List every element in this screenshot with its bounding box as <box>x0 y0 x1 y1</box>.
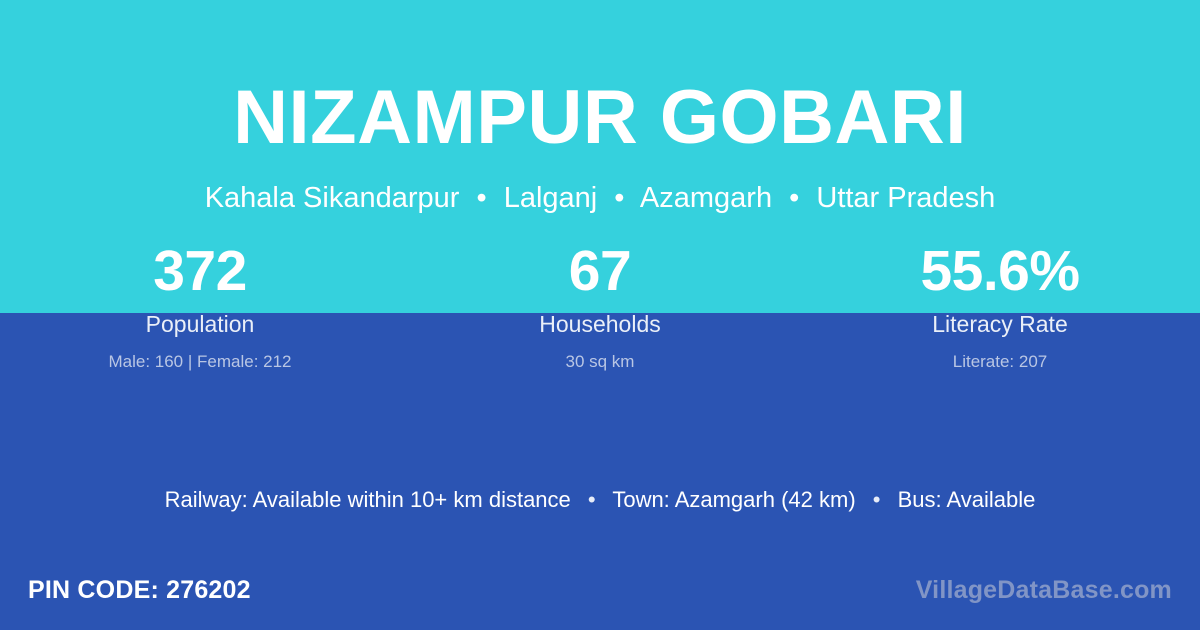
stat-population: 372 Population Male: 160 | Female: 212 <box>0 243 400 370</box>
page-title: NIZAMPUR GOBARI <box>0 80 1200 156</box>
amenity-bus: Bus: Available <box>898 487 1036 512</box>
stat-value: 67 <box>400 243 800 313</box>
stat-value: 372 <box>0 243 400 313</box>
amenity-town: Town: Azamgarh (42 km) <box>612 487 855 512</box>
stat-households: 67 Households 30 sq km <box>400 243 800 370</box>
stat-subtext: Male: 160 | Female: 212 <box>0 353 400 370</box>
breadcrumb-separator-icon: • <box>780 181 808 216</box>
stat-literacy-rate: 55.6% Literacy Rate Literate: 207 <box>800 243 1200 370</box>
amenities-line: Railway: Available within 10+ km distanc… <box>0 487 1200 513</box>
breadcrumb-part-district: Azamgarh <box>640 182 772 214</box>
amenity-railway: Railway: Available within 10+ km distanc… <box>165 487 571 512</box>
stats-row: 372 Population Male: 160 | Female: 212 6… <box>0 243 1200 370</box>
amenity-separator-icon: • <box>862 487 892 513</box>
stat-label: Households <box>400 313 800 336</box>
village-info-card: NIZAMPUR GOBARI Kahala Sikandarpur • Lal… <box>0 0 1200 630</box>
breadcrumb-separator-icon: • <box>605 181 633 216</box>
amenity-separator-icon: • <box>577 487 607 513</box>
stat-label: Population <box>0 313 400 336</box>
breadcrumb-part-subdistrict: Kahala Sikandarpur <box>205 182 460 214</box>
breadcrumb-part-block: Lalganj <box>504 182 598 214</box>
stat-subtext: 30 sq km <box>400 353 800 370</box>
stat-subtext: Literate: 207 <box>800 353 1200 370</box>
stat-value: 55.6% <box>800 243 1200 313</box>
breadcrumb: Kahala Sikandarpur • Lalganj • Azamgarh … <box>0 181 1200 216</box>
footer: PIN CODE: 276202 VillageDataBase.com <box>0 550 1200 630</box>
breadcrumb-part-state: Uttar Pradesh <box>816 182 995 214</box>
site-brand: VillageDataBase.com <box>916 576 1172 605</box>
pin-code: PIN CODE: 276202 <box>28 576 251 605</box>
stat-label: Literacy Rate <box>800 313 1200 336</box>
breadcrumb-separator-icon: • <box>467 181 495 216</box>
